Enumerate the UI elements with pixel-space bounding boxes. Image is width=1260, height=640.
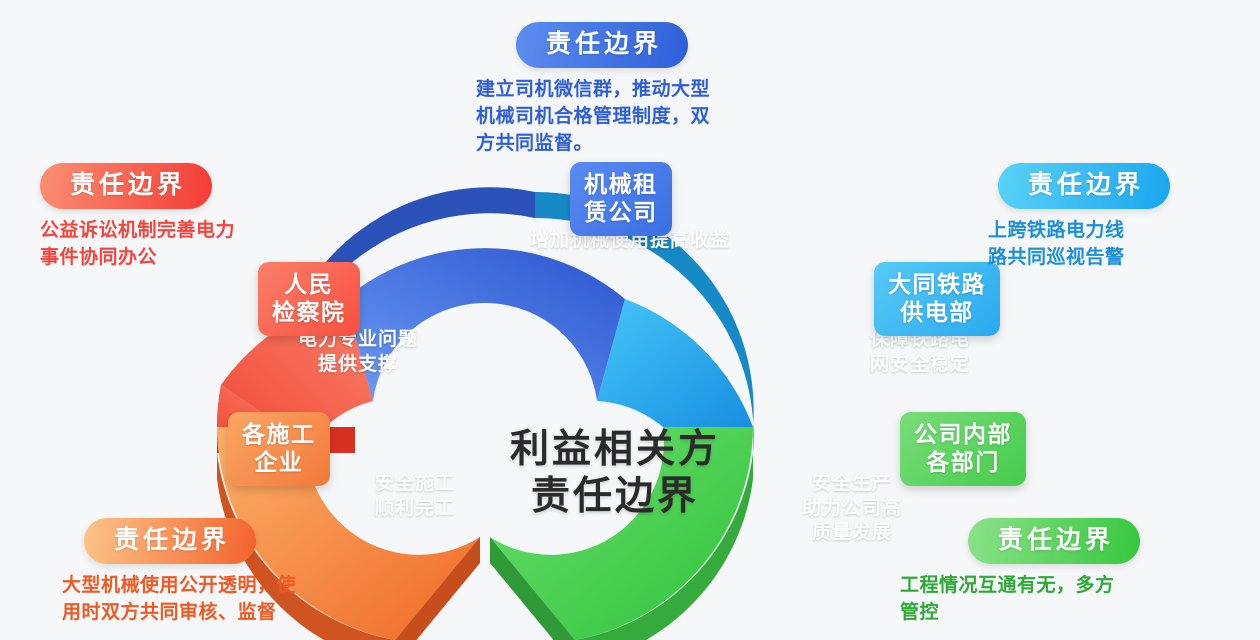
badge-mechanical-leasing-company[interactable]: 机械租 赁公司 [570, 162, 672, 236]
callout-right-bottom-pill: 责任边界 [968, 518, 1140, 564]
callout-top-description: 建立司机微信群，推动大型 机械司机合格管理制度，双 方共同监督。 [476, 77, 806, 158]
callout-left-top-pill: 责任边界 [40, 163, 212, 209]
badge-construction-enterprises[interactable]: 各施工 企业 [228, 412, 330, 486]
badge-datong-railway-power-supply[interactable]: 大同铁路 供电部 [874, 262, 1000, 336]
callout-top: 责任边界 建立司机微信群，推动大型 机械司机合格管理制度，双 方共同监督。 [476, 22, 806, 158]
callout-left-top-description: 公益诉讼机制完善电力 事件协同办公 [40, 218, 330, 272]
badge-peoples-procuratorate[interactable]: 人民 检察院 [258, 262, 360, 336]
callout-left-bottom: 责任边界 大型机械使用公开透明，使 用时双方共同审核、监督 [62, 518, 412, 627]
infographic-canvas: 增加机械使用提高收益 电力专业问题 提供支撑 保障铁路电 网安全稳定 安全生产 … [0, 0, 1260, 640]
segment-blue [345, 248, 625, 401]
badge-internal-departments[interactable]: 公司内部 各部门 [900, 412, 1026, 486]
callout-top-pill: 责任边界 [516, 22, 688, 68]
callout-right-bottom: 责任边界 工程情况互通有无，多方 管控 [900, 518, 1230, 627]
callout-left-top: 责任边界 公益诉讼机制完善电力 事件协同办公 [40, 163, 330, 272]
callout-right-top-pill: 责任边界 [998, 163, 1170, 209]
callout-left-bottom-pill: 责任边界 [84, 518, 256, 564]
callout-right-bottom-description: 工程情况互通有无，多方 管控 [900, 573, 1230, 627]
callout-right-top: 责任边界 上跨铁路电力线 路共同巡视告警 [988, 163, 1258, 272]
callout-left-bottom-description: 大型机械使用公开透明，使 用时双方共同审核、监督 [62, 573, 412, 627]
callout-right-top-description: 上跨铁路电力线 路共同巡视告警 [988, 218, 1258, 272]
center-title: 利益相关方 责任边界 [470, 427, 760, 521]
